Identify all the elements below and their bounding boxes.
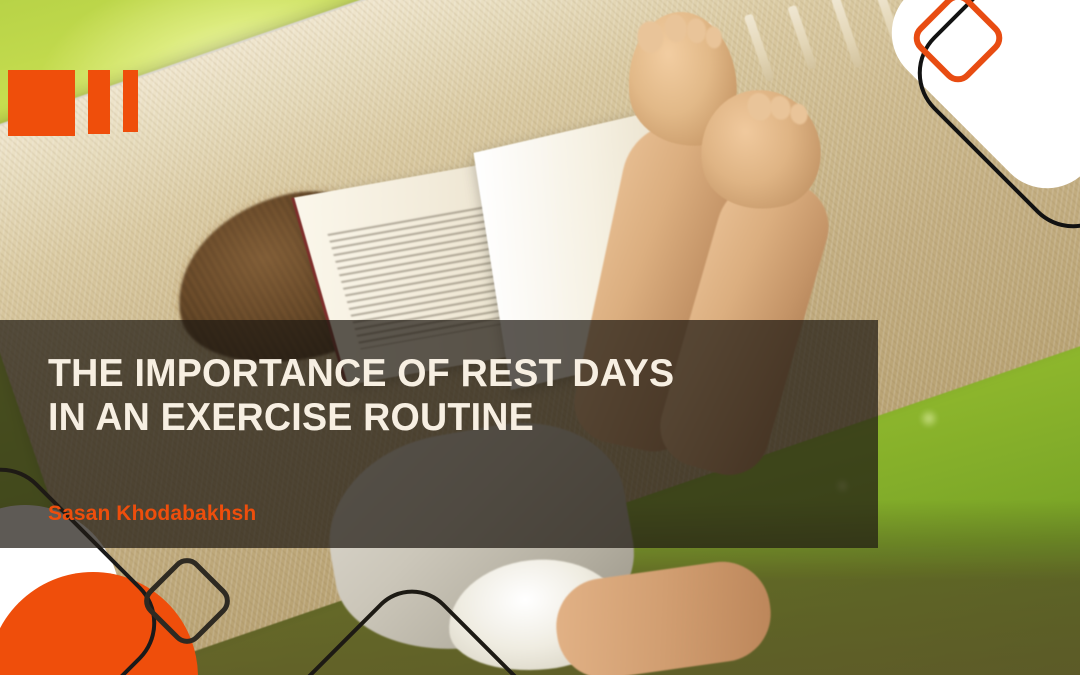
- logo-bar-narrow-icon: [123, 70, 138, 132]
- blog-cover-canvas: THE IMPORTANCE OF REST DAYS IN AN EXERCI…: [0, 0, 1080, 675]
- logo-bar-medium-icon: [88, 70, 110, 134]
- page-title: THE IMPORTANCE OF REST DAYS IN AN EXERCI…: [48, 352, 820, 439]
- brand-logo[interactable]: [8, 70, 138, 136]
- logo-bar-wide-icon: [8, 70, 75, 136]
- author-name: Sasan Khodabakhsh: [48, 502, 256, 526]
